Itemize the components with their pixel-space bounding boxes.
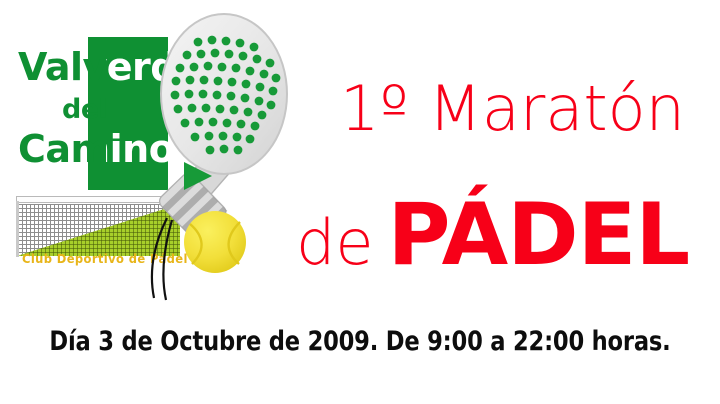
wordmark-del-green: del xyxy=(62,96,107,123)
net-post-left xyxy=(16,201,19,257)
title-line-2: de PÁDEL xyxy=(296,192,689,278)
event-date-line: Día 3 de Octubre de 2009. De 9:00 a 22:0… xyxy=(25,326,695,357)
title-word-padel: PÁDEL xyxy=(388,192,690,278)
tennis-ball-icon xyxy=(184,211,246,273)
padel-tournament-poster: Valverde Valverde del del Camino Camino … xyxy=(0,0,720,404)
wrist-strap-icon xyxy=(152,218,172,300)
padel-racket-icon xyxy=(120,10,300,305)
club-logo: Valverde Valverde del del Camino Camino … xyxy=(0,0,300,310)
title-line-1: 1º Maratón xyxy=(340,78,685,140)
title-word-de: de xyxy=(296,212,374,274)
